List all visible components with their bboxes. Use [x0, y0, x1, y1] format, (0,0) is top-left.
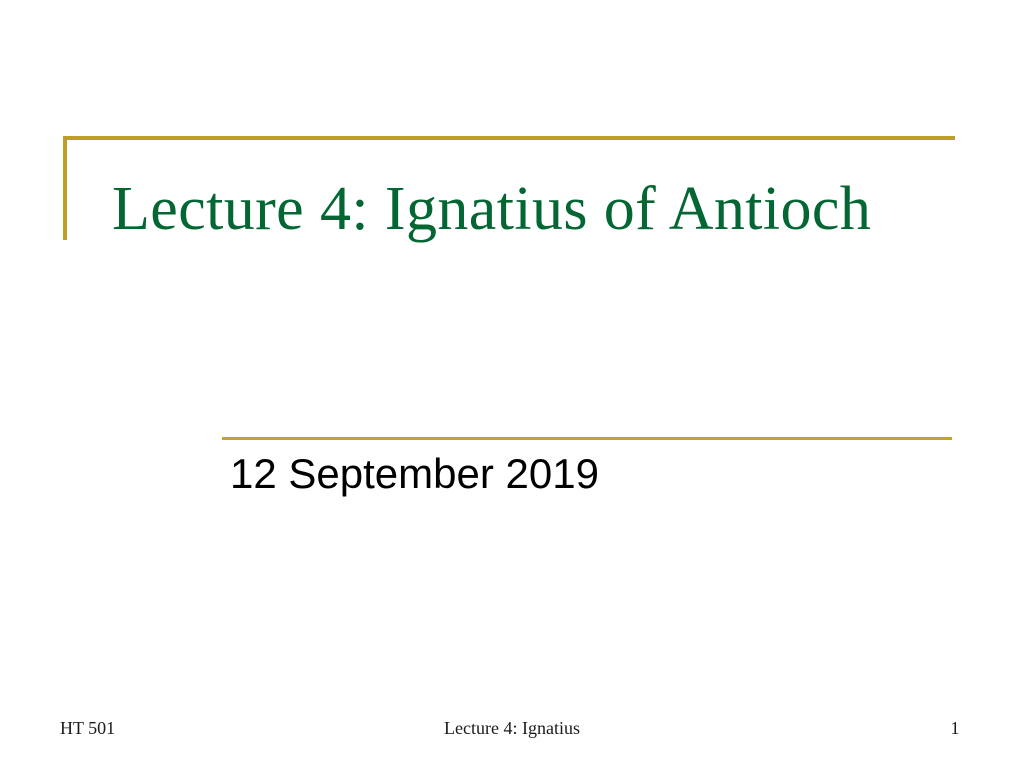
slide-title: Lecture 4: Ignatius of Antioch — [112, 176, 962, 243]
presentation-slide: Lecture 4: Ignatius of Antioch 12 Septem… — [0, 0, 1024, 768]
footer-running-title: Lecture 4: Ignatius — [0, 718, 1024, 739]
slide-footer: HT 501 Lecture 4: Ignatius 1 — [0, 718, 1024, 758]
title-accent-rule-left — [63, 136, 67, 240]
subtitle-accent-rule — [222, 437, 952, 440]
slide-subtitle-date: 12 September 2019 — [230, 450, 950, 498]
title-accent-rule-top — [63, 136, 955, 140]
footer-page-number: 1 — [930, 718, 980, 739]
